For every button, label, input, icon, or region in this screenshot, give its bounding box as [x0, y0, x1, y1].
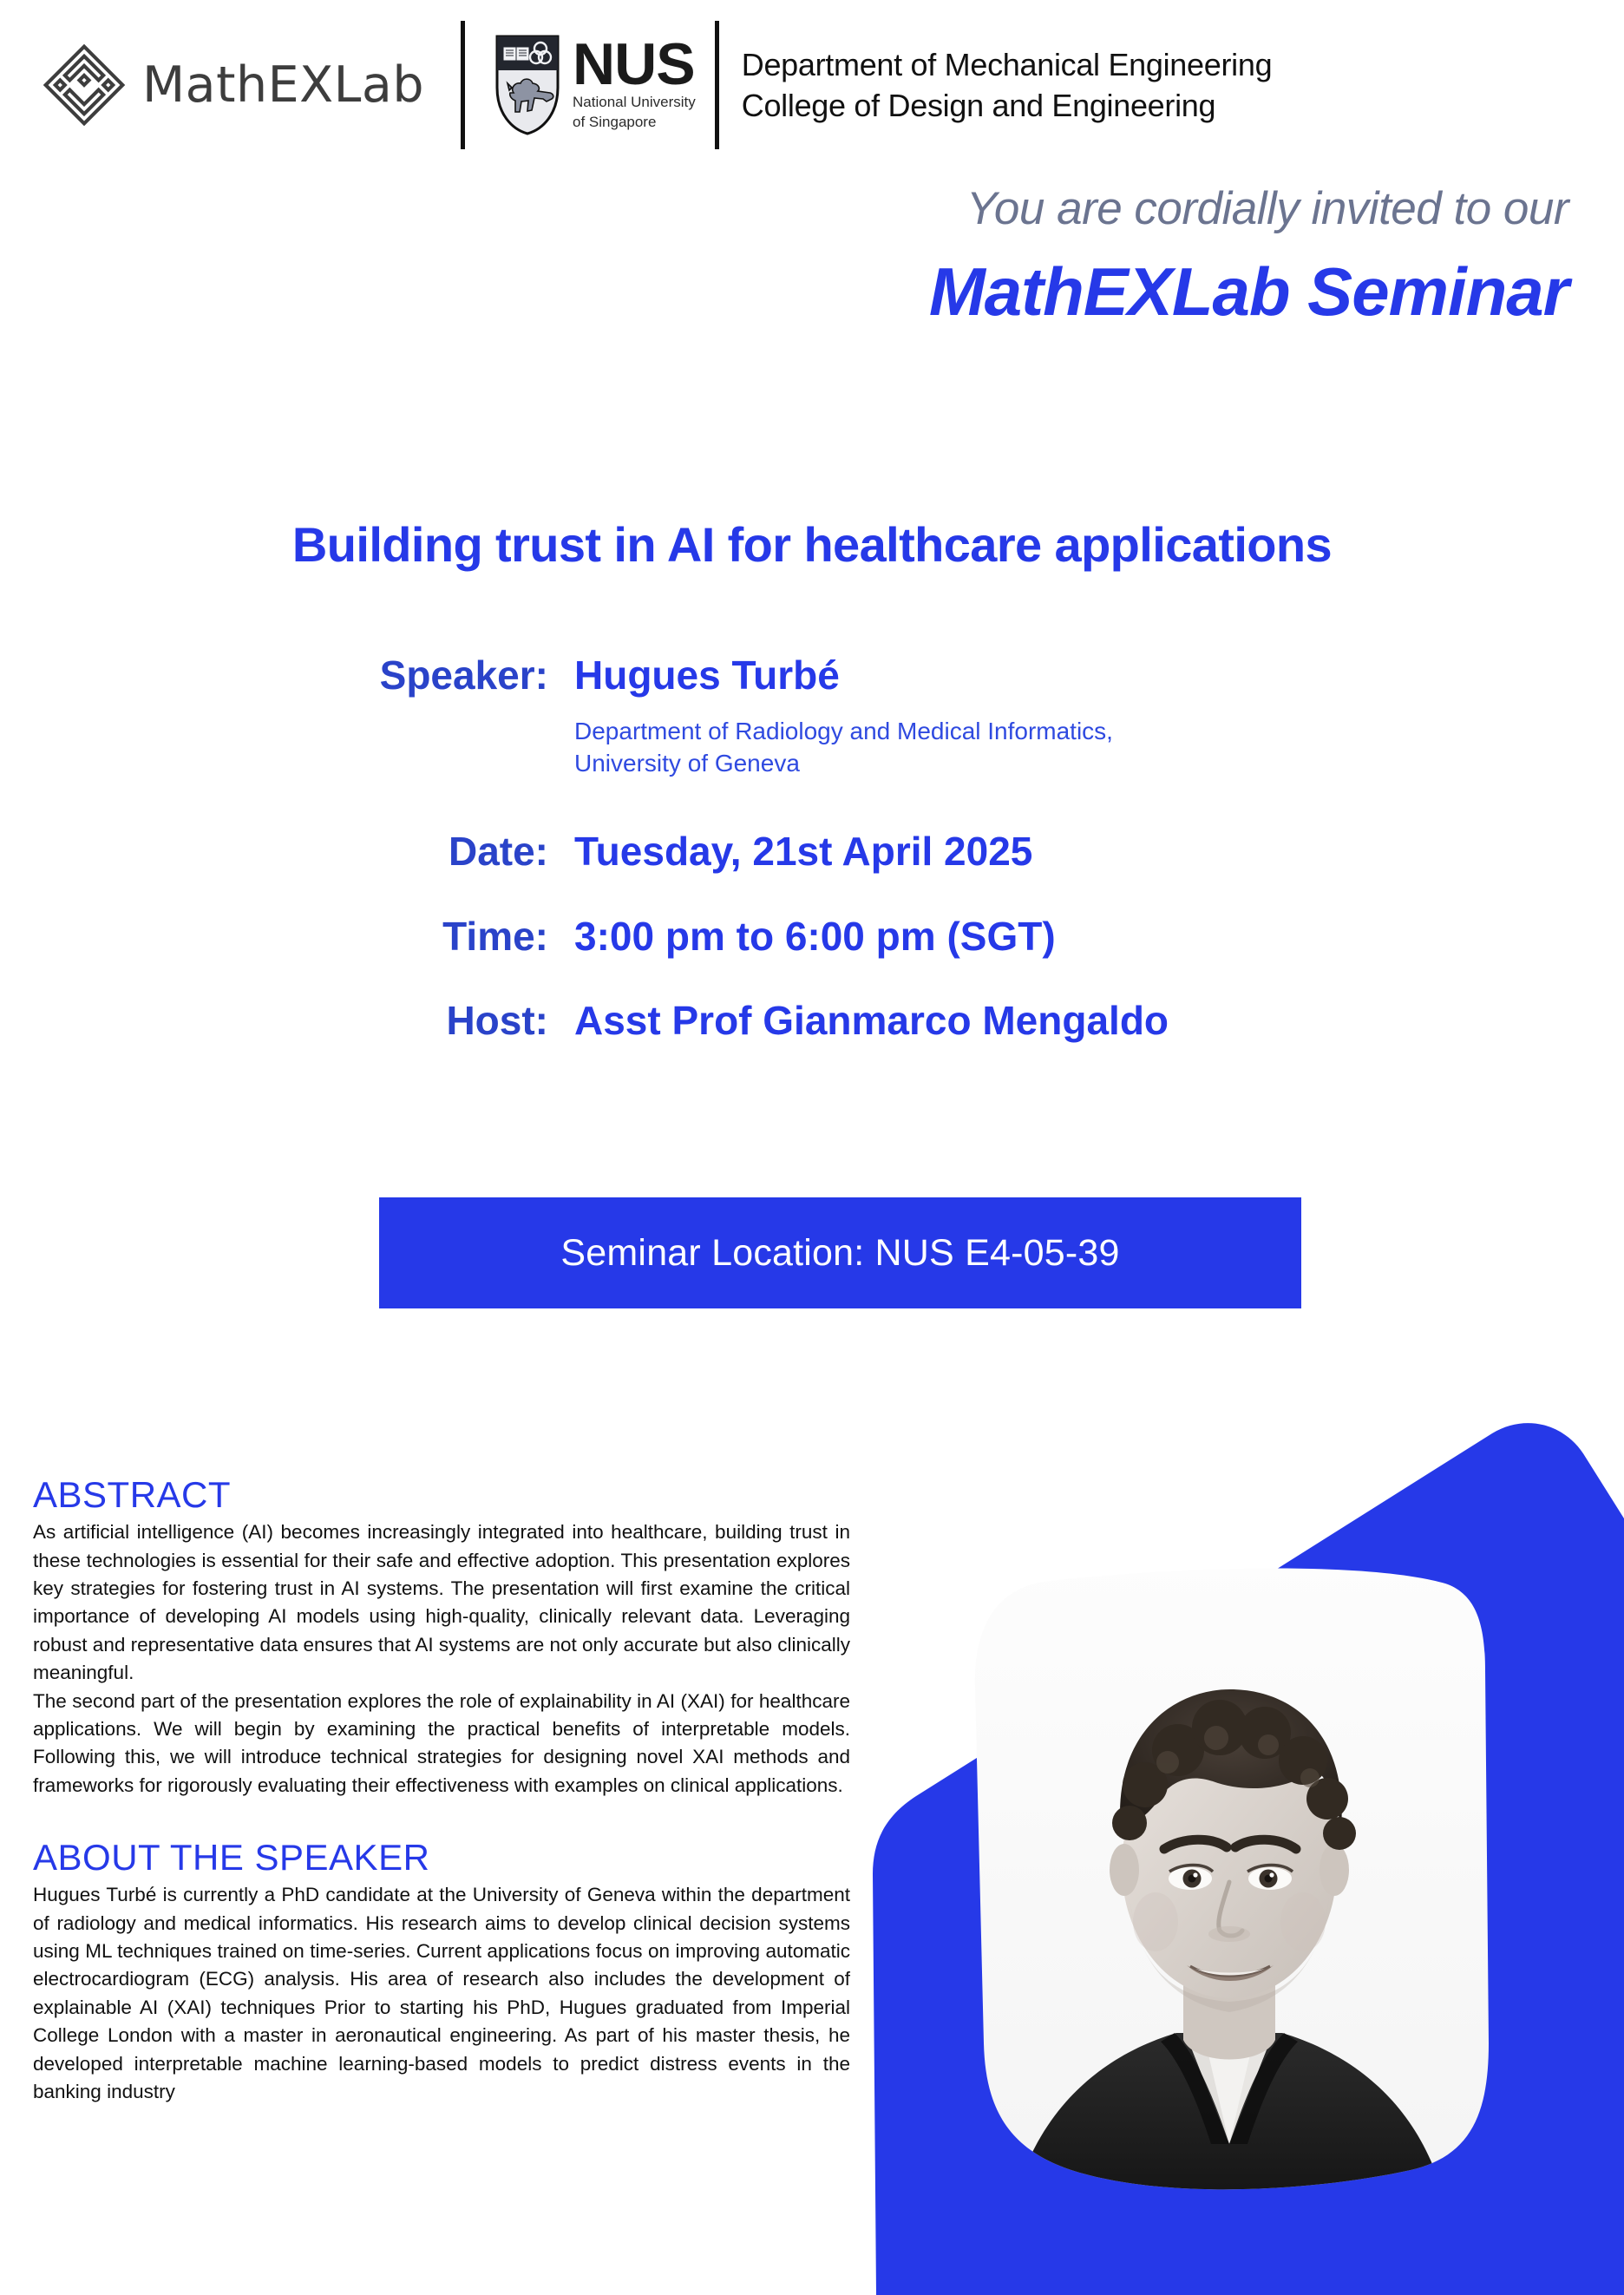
mathexlab-wordmark: MathEXLab: [142, 56, 424, 114]
details-spacer-1: [305, 780, 1433, 827]
time-label: Time:: [305, 912, 548, 962]
time-value: 3:00 pm to 6:00 pm (SGT): [574, 912, 1433, 962]
nus-fullname-line1: National University: [573, 94, 696, 110]
abstract-paragraph-2: The second part of the presentation expl…: [33, 1688, 850, 1800]
date-value: Tuesday, 21st April 2025: [574, 827, 1433, 877]
about-speaker-paragraph: Hugues Turbé is currently a PhD candidat…: [33, 1881, 850, 2106]
poster-header: MathEXLab NUS National University of Sin…: [0, 0, 1624, 170]
nus-crest-icon: [494, 34, 560, 136]
about-speaker-heading: ABOUT THE SPEAKER: [33, 1838, 850, 1878]
nus-abbreviation: NUS: [573, 40, 696, 90]
poster-body-text: ABSTRACT As artificial intelligence (AI)…: [33, 1475, 850, 2106]
mathexlab-maze-icon: [42, 43, 127, 128]
mathexlab-logo: MathEXLab: [42, 43, 424, 128]
invitation-subtitle: You are cordially invited to our: [0, 184, 1568, 234]
abstract-paragraph-1: As artificial intelligence (AI) becomes …: [33, 1518, 850, 1687]
page-title: Building trust in AI for healthcare appl…: [0, 516, 1624, 573]
speaker-name: Hugues Turbé: [574, 651, 1433, 701]
speaker-affiliation-line-2: University of Geneva: [574, 747, 1433, 780]
header-divider-2: [715, 21, 719, 149]
department-block: Department of Mechanical Engineering Col…: [742, 47, 1273, 124]
department-line-1: Department of Mechanical Engineering: [742, 47, 1273, 82]
nus-logo: NUS National University of Singapore: [494, 34, 696, 136]
seminar-location-banner: Seminar Location: NUS E4-05-39: [379, 1197, 1301, 1308]
host-label: Host:: [305, 996, 548, 1046]
host-value: Asst Prof Gianmarco Mengaldo: [574, 996, 1433, 1046]
nus-fullname-line2: of Singapore: [573, 114, 696, 130]
seminar-details: Speaker: Hugues Turbé Department of Radi…: [305, 651, 1433, 1046]
department-line-2: College of Design and Engineering: [742, 88, 1273, 123]
date-label: Date:: [305, 827, 548, 877]
speaker-photo: [959, 1557, 1499, 2210]
seminar-series-title: MathEXLab Seminar: [0, 253, 1568, 331]
seminar-location-text: Seminar Location: NUS E4-05-39: [560, 1232, 1119, 1275]
speaker-portrait-image: [959, 1557, 1499, 2210]
details-spacer-3: [305, 961, 1433, 996]
invitation-block: You are cordially invited to our MathEXL…: [0, 184, 1568, 331]
header-divider-1: [461, 21, 465, 149]
abstract-heading: ABSTRACT: [33, 1475, 850, 1515]
speaker-affiliation-line-1: Department of Radiology and Medical Info…: [574, 715, 1433, 748]
details-spacer-2: [305, 877, 1433, 912]
speaker-label: Speaker:: [305, 651, 548, 701]
nus-text-block: NUS National University of Singapore: [573, 40, 696, 130]
